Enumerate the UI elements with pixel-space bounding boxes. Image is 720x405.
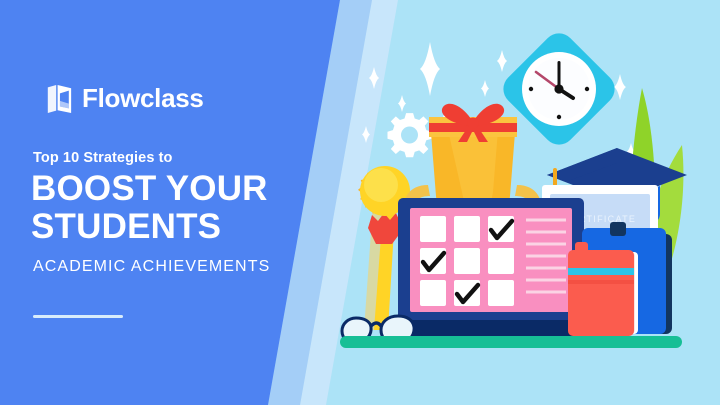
headline: BOOST YOUR STUDENTS xyxy=(31,170,268,246)
monitor-text-lines xyxy=(526,220,566,292)
brand-logo[interactable]: Flowclass xyxy=(45,83,204,114)
brand-name: Flowclass xyxy=(82,83,204,114)
headline-line-2: STUDENTS xyxy=(31,208,268,246)
gear-icon xyxy=(388,113,432,157)
desk-surface xyxy=(340,336,682,348)
checklist-grid xyxy=(420,216,514,306)
kicker-text: Top 10 Strategies to xyxy=(33,150,173,166)
headline-line-1: BOOST YOUR xyxy=(31,170,268,208)
education-illustration: CERTIFICATE xyxy=(330,0,720,405)
subheadline: ACADEMIC ACHIEVEMENTS xyxy=(33,258,270,276)
promo-banner: Flowclass Top 10 Strategies to BOOST YOU… xyxy=(0,0,720,405)
accent-divider xyxy=(33,315,123,318)
monitor-checklist-icon xyxy=(386,198,596,336)
open-book-logo-icon xyxy=(45,84,73,114)
books-icon xyxy=(568,222,672,336)
